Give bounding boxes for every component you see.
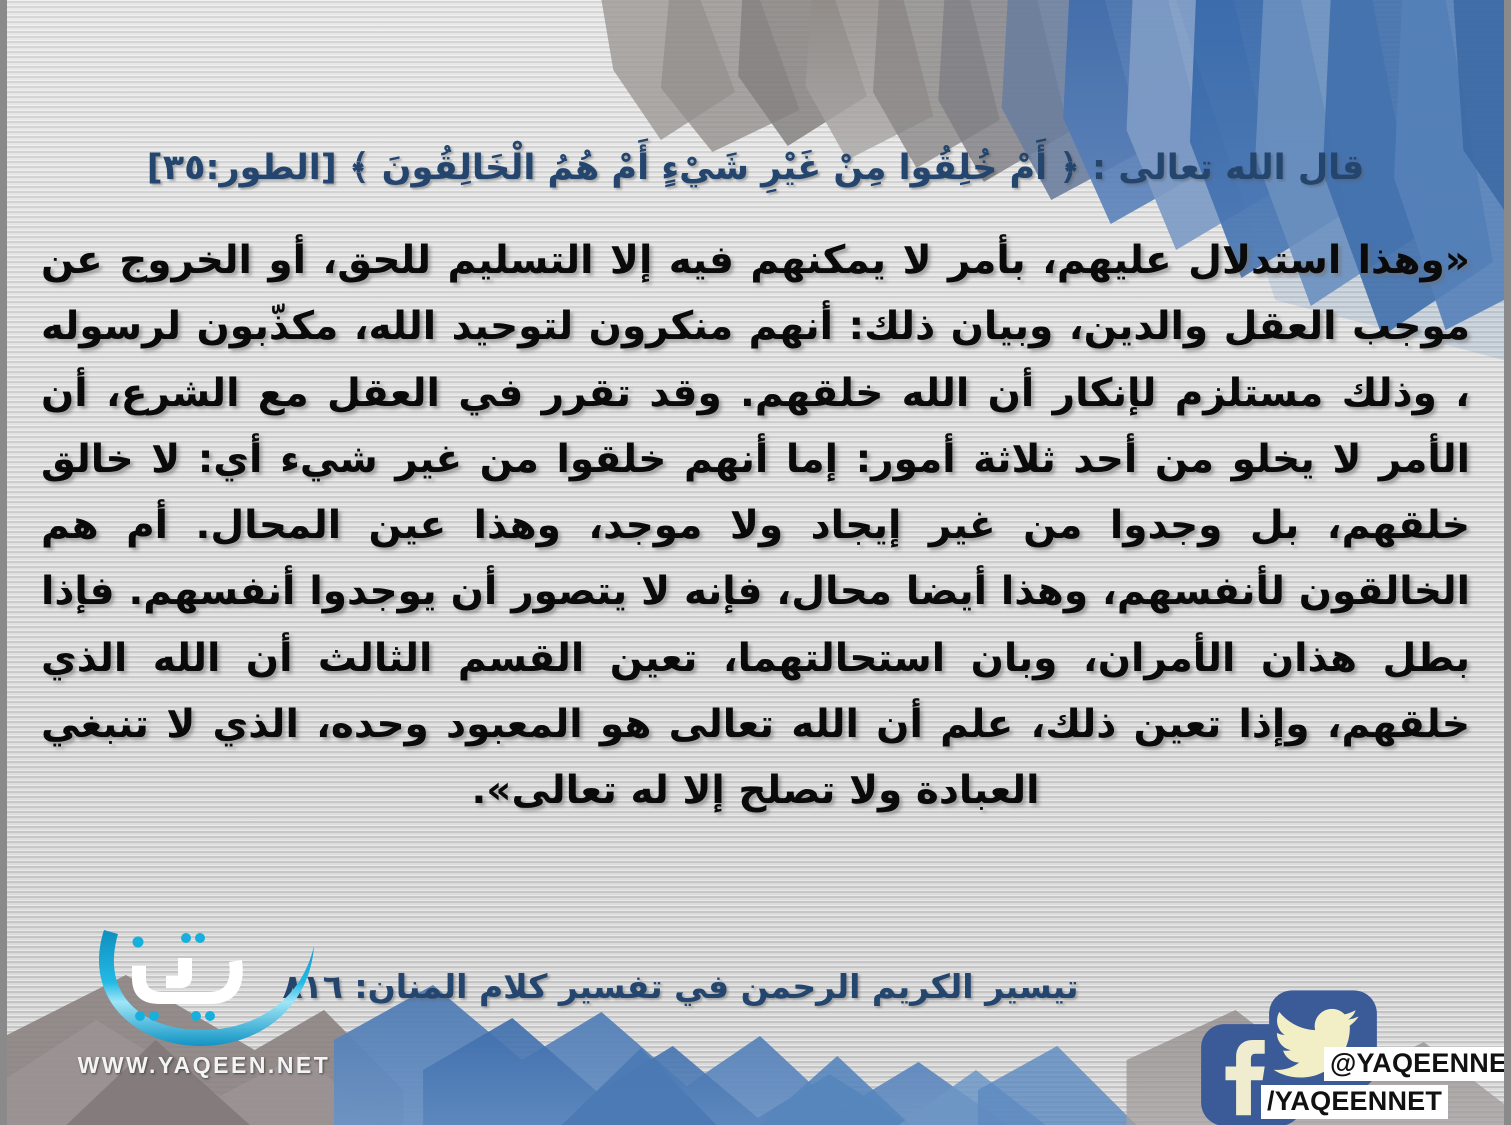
brand-logo[interactable]: WWW.YAQEEN.NET (69, 912, 339, 1112)
facebook-handle[interactable]: /YAQEENNET (1261, 1085, 1448, 1119)
social-links: @YAQEENNET /YAQEENNET (1199, 992, 1511, 1125)
poster-content: قال الله تعالى : ﴿ أَمْ خُلِقُوا مِنْ غَ… (7, 0, 1504, 1125)
tafsir-paragraph: «وهذا استدلال عليهم، بأمر لا يمكنهم فيه … (41, 228, 1470, 825)
twitter-handle[interactable]: @YAQEENNET (1324, 1047, 1511, 1081)
yaqeen-logo-mark (74, 912, 334, 1062)
poster-canvas: قال الله تعالى : ﴿ أَمْ خُلِقُوا مِنْ غَ… (0, 0, 1511, 1125)
yaqeen-crescent-icon (74, 912, 334, 1062)
tafsir-body: «وهذا استدلال عليهم، بأمر لا يمكنهم فيه … (41, 228, 1470, 825)
quran-verse-heading: قال الله تعالى : ﴿ أَمْ خُلِقُوا مِنْ غَ… (35, 147, 1476, 190)
